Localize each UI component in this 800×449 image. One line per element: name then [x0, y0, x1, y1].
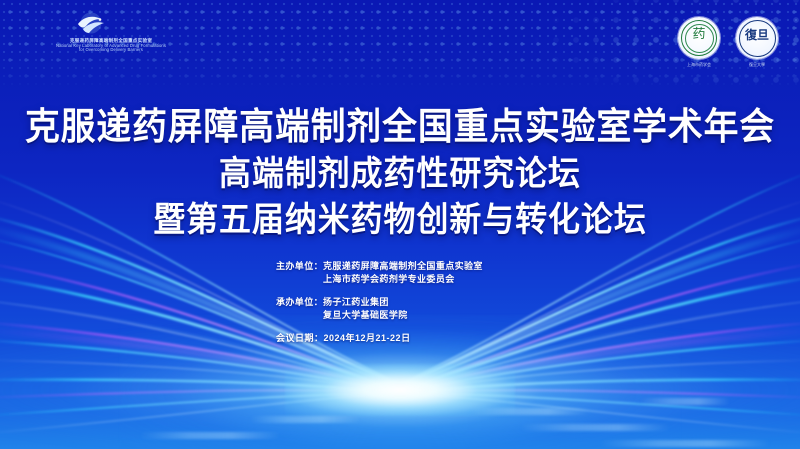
host-value-1: 克服递药屏障高端制剂全国重点实验室 [323, 260, 483, 273]
perspective-slab [640, 398, 730, 405]
conference-banner: 克服递药屏障高端制剂全国重点实验室 National Key Laborator… [0, 0, 800, 449]
details-spacer [276, 286, 576, 296]
perspective-slab [250, 416, 360, 423]
date-label: 会议日期： [276, 332, 324, 345]
perspective-slab [600, 440, 770, 447]
organizer-value-1: 扬子江药业集团 [323, 296, 408, 309]
perspective-slab [470, 408, 590, 415]
wing-bird-emblem-icon [74, 12, 108, 38]
title-block: 克服递药屏障高端制剂全国重点实验室学术年会 高端制剂成药性研究论坛 暨第五届纳米… [0, 103, 800, 243]
fudan-university-emblem-icon: 復旦 復旦大學 [736, 17, 778, 59]
date-row: 会议日期： 2024年12月21-22日 [276, 332, 576, 345]
association-emblem-subtext: 上海市药学会 [678, 62, 720, 68]
host-value-2: 上海市药学会药剂学专业委员会 [323, 273, 483, 286]
title-line-2: 高端制剂成药性研究论坛 [24, 151, 776, 197]
lab-logo: 克服递药屏障高端制剂全国重点实验室 National Key Laborator… [36, 12, 186, 60]
lab-logo-caption: 克服递药屏障高端制剂全国重点实验室 National Key Laborator… [36, 39, 186, 53]
organizer-values: 扬子江药业集团 复旦大学基础医学院 [323, 296, 408, 322]
host-values: 克服递药屏障高端制剂全国重点实验室 上海市药学会药剂学专业委员会 [323, 260, 483, 286]
details-block: 主办单位： 克服递药屏障高端制剂全国重点实验室 上海市药学会药剂学专业委员会 承… [276, 260, 576, 345]
details-spacer [276, 322, 576, 332]
host-row: 主办单位： 克服递药屏障高端制剂全国重点实验室 上海市药学会药剂学专业委员会 [276, 260, 576, 286]
organizer-value-2: 复旦大学基础医学院 [323, 309, 408, 322]
host-label: 主办单位： [276, 260, 323, 273]
pharmaceutical-association-emblem-icon: 药 上海市药学会 [678, 17, 720, 59]
organizer-label: 承办单位： [276, 296, 323, 309]
lab-name-en-2: for Overcoming Delivery Barriers [36, 48, 186, 52]
title-line-1: 克服递药屏障高端制剂全国重点实验室学术年会 [24, 103, 776, 151]
organizer-row: 承办单位： 扬子江药业集团 复旦大学基础医学院 [276, 296, 576, 322]
date-value: 2024年12月21-22日 [324, 332, 411, 345]
university-emblem-subtext: 復旦大學 [736, 62, 778, 68]
perspective-slab [140, 432, 280, 439]
university-emblem-glyph: 復旦 [736, 29, 778, 41]
perspective-slab [520, 424, 670, 431]
title-line-3: 暨第五届纳米药物创新与转化论坛 [24, 197, 776, 243]
partner-logos: 药 上海市药学会 復旦 復旦大學 [658, 14, 778, 62]
association-emblem-glyph: 药 [678, 28, 720, 41]
